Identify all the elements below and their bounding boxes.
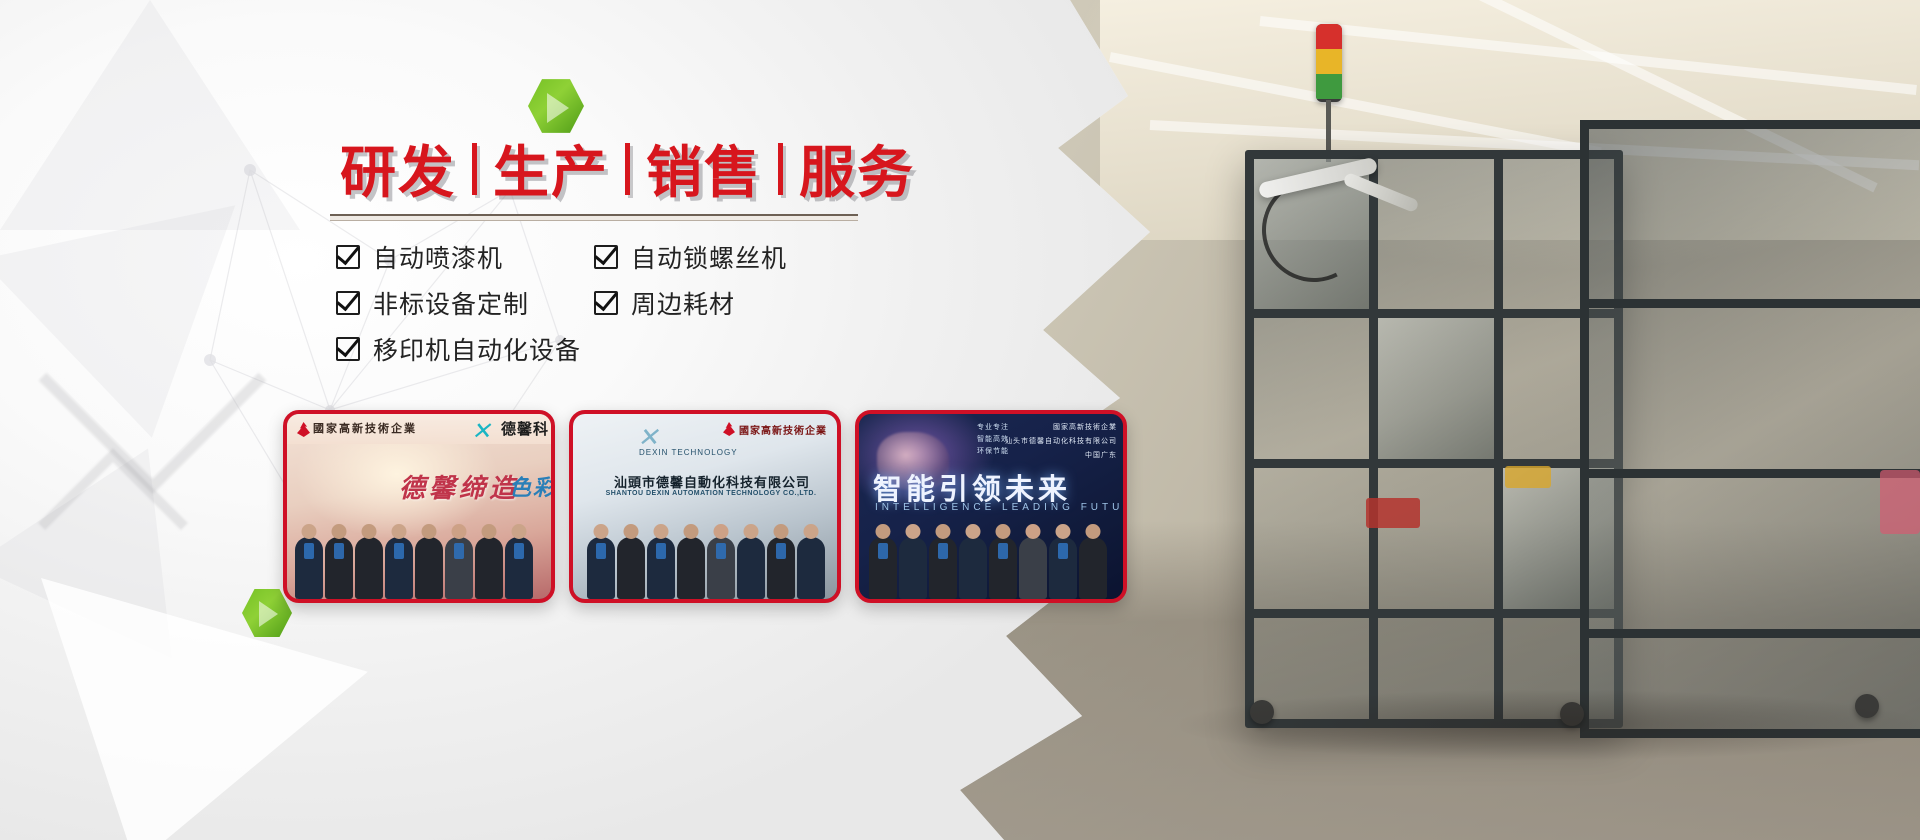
card-tag: 中国广东 (1085, 450, 1117, 460)
feature-item: 非标设备定制 (336, 280, 594, 326)
feature-item: 移印机自动化设备 (336, 326, 856, 372)
card-tag: 环保节能 (977, 446, 1009, 456)
divider (330, 214, 858, 221)
machine-frame-secondary (1580, 120, 1920, 738)
feature-item: 自动锁螺丝机 (594, 234, 852, 280)
headline-segment-production: 生产 (483, 128, 619, 209)
card-slogan: 德馨缔造 (399, 468, 519, 505)
promotional-banner: 研发 生产 销售 服务 自动喷漆机 自动锁螺丝机 非标设备定制 周边耗材 移印机… (0, 0, 1920, 840)
headline-segment-service: 服务 (789, 128, 925, 209)
team-people-group (573, 521, 837, 599)
tower-light-icon (1316, 24, 1342, 102)
checkbox-checked-icon (336, 337, 360, 361)
feature-label: 自动锁螺丝机 (631, 239, 787, 275)
card-tag: 专业专注 (977, 422, 1009, 432)
photo-card-list: 國家高新技術企業 ✕ 德馨科 德馨缔造 色彩 ✕ 國家高新技術企業 DEXIN … (283, 410, 1127, 603)
red-component (1366, 498, 1420, 528)
yellow-component (1505, 466, 1551, 488)
company-name-cn: 汕頭市德馨自動化科技有限公司 (593, 472, 831, 491)
checkbox-checked-icon (336, 291, 360, 315)
headline-separator (472, 143, 477, 195)
feature-list: 自动喷漆机 自动锁螺丝机 非标设备定制 周边耗材 移印机自动化设备 (336, 234, 856, 372)
photo-card-intelligence[interactable]: 专业专注 智能高效 环保节能 國家高新技術企業 汕头市德馨自动化科技有限公司 中… (855, 410, 1127, 603)
feature-label: 非标设备定制 (373, 285, 529, 321)
team-people-group (287, 521, 551, 599)
card-slogan-secondary: 色彩 (509, 470, 555, 502)
photo-card-booth[interactable]: ✕ 國家高新技術企業 DEXIN TECHNOLOGY 汕頭市德馨自動化科技有限… (569, 410, 841, 603)
award-badge-label: 國家高新技術企業 (313, 420, 417, 436)
feature-label: 周边耗材 (631, 285, 735, 321)
team-people-group (859, 521, 1123, 599)
checkbox-checked-icon (336, 245, 360, 269)
photo-card-award[interactable]: 國家高新技術企業 ✕ 德馨科 德馨缔造 色彩 (283, 410, 555, 603)
feature-item: 周边耗材 (594, 280, 852, 326)
card-tag: 國家高新技術企業 (1053, 422, 1117, 432)
headline-segment-sales: 销售 (636, 128, 772, 209)
card-title-en: INTELLIGENCE LEADING FUTURE (875, 502, 1127, 513)
card-tag: 汕头市德馨自动化科技有限公司 (1005, 436, 1117, 446)
page-title: 研发 生产 销售 服务 (330, 128, 925, 209)
brand-label: 德馨科 (501, 418, 549, 439)
award-badge-label: 國家高新技術企業 (739, 422, 827, 437)
headline-segment-rd: 研发 (330, 128, 466, 209)
headline-separator (778, 143, 783, 195)
checkbox-checked-icon (594, 245, 618, 269)
brand-en-label: DEXIN TECHNOLOGY (639, 448, 738, 457)
checkbox-checked-icon (594, 291, 618, 315)
pink-component (1880, 470, 1920, 534)
feature-label: 移印机自动化设备 (373, 331, 581, 367)
floor-shadow (1180, 690, 1920, 760)
headline-separator (625, 143, 630, 195)
company-name-en: SHANTOU DEXIN AUTOMATION TECHNOLOGY CO.,… (589, 490, 833, 497)
feature-label: 自动喷漆机 (373, 239, 503, 275)
feature-item: 自动喷漆机 (336, 234, 594, 280)
